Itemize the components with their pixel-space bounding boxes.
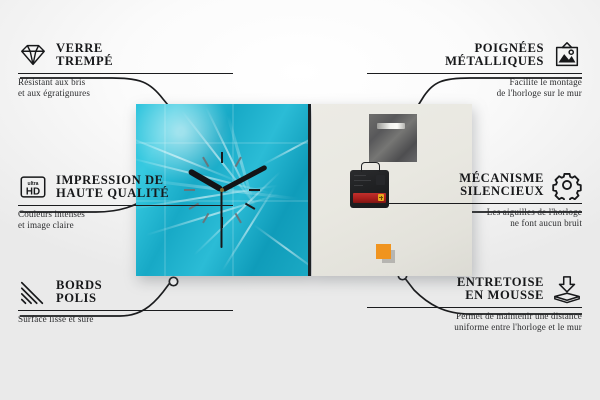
feature-subtitle: Surface lisse et sûre [18, 314, 233, 325]
feature-subtitle: Résistant aux bris et aux égratignures [18, 77, 233, 98]
hanging-picture-frame-icon [552, 40, 582, 70]
feature-title: POIGNÉES MÉTALLIQUES [445, 42, 544, 69]
feature-divider [367, 307, 582, 308]
feature-divider [367, 73, 582, 74]
feature-title: IMPRESSION DE HAUTE QUALITÉ [56, 174, 169, 201]
gear-icon [552, 170, 582, 200]
feature-entretoise-en-mousse: ENTRETOISE EN MOUSSE Permet de maintenir… [367, 274, 582, 333]
foam-spacer [376, 244, 391, 259]
ultra-hd-badge-icon: ultra HD [18, 172, 48, 202]
feature-mecanisme-silencieux: MÉCANISME SILENCIEUX Les aiguilles de l'… [367, 170, 582, 229]
hanger-keyhole-slot [377, 123, 405, 129]
feature-divider [18, 310, 233, 311]
feature-divider [367, 203, 582, 204]
feature-poignees-metalliques: POIGNÉES MÉTALLIQUES Facilite le montage… [367, 40, 582, 99]
arrow-down-onto-pad-icon [552, 274, 582, 304]
feature-title: ENTRETOISE EN MOUSSE [457, 276, 544, 303]
feature-subtitle: Les aiguilles de l'horloge ne font aucun… [367, 207, 582, 228]
feature-title: MÉCANISME SILENCIEUX [459, 172, 544, 199]
feature-divider [18, 205, 233, 206]
feature-divider [18, 73, 233, 74]
feature-verre-trempe: VERRE TREMPÉ Résistant aux bris et aux é… [18, 40, 233, 99]
feature-title: VERRE TREMPÉ [56, 42, 113, 69]
feature-bords-polis: BORDS POLIS Surface lisse et sûre [18, 277, 233, 325]
diamond-icon [18, 40, 48, 70]
feature-title: BORDS POLIS [56, 279, 102, 306]
diagonal-lines-icon [18, 277, 48, 307]
metal-hanger-plate [369, 114, 417, 162]
feature-subtitle: Facilite le montage de l'horloge sur le … [367, 77, 582, 98]
feature-subtitle: Couleurs intenses et image claire [18, 209, 233, 230]
ultra-hd-large-text: HD [26, 187, 40, 198]
infographic-canvas: VERRE TREMPÉ Résistant aux bris et aux é… [0, 0, 600, 400]
feature-subtitle: Permet de maintenir une distance uniform… [367, 311, 582, 332]
feature-impression-haute-qualite: ultra HD IMPRESSION DE HAUTE QUALITÉ Cou… [18, 172, 233, 231]
